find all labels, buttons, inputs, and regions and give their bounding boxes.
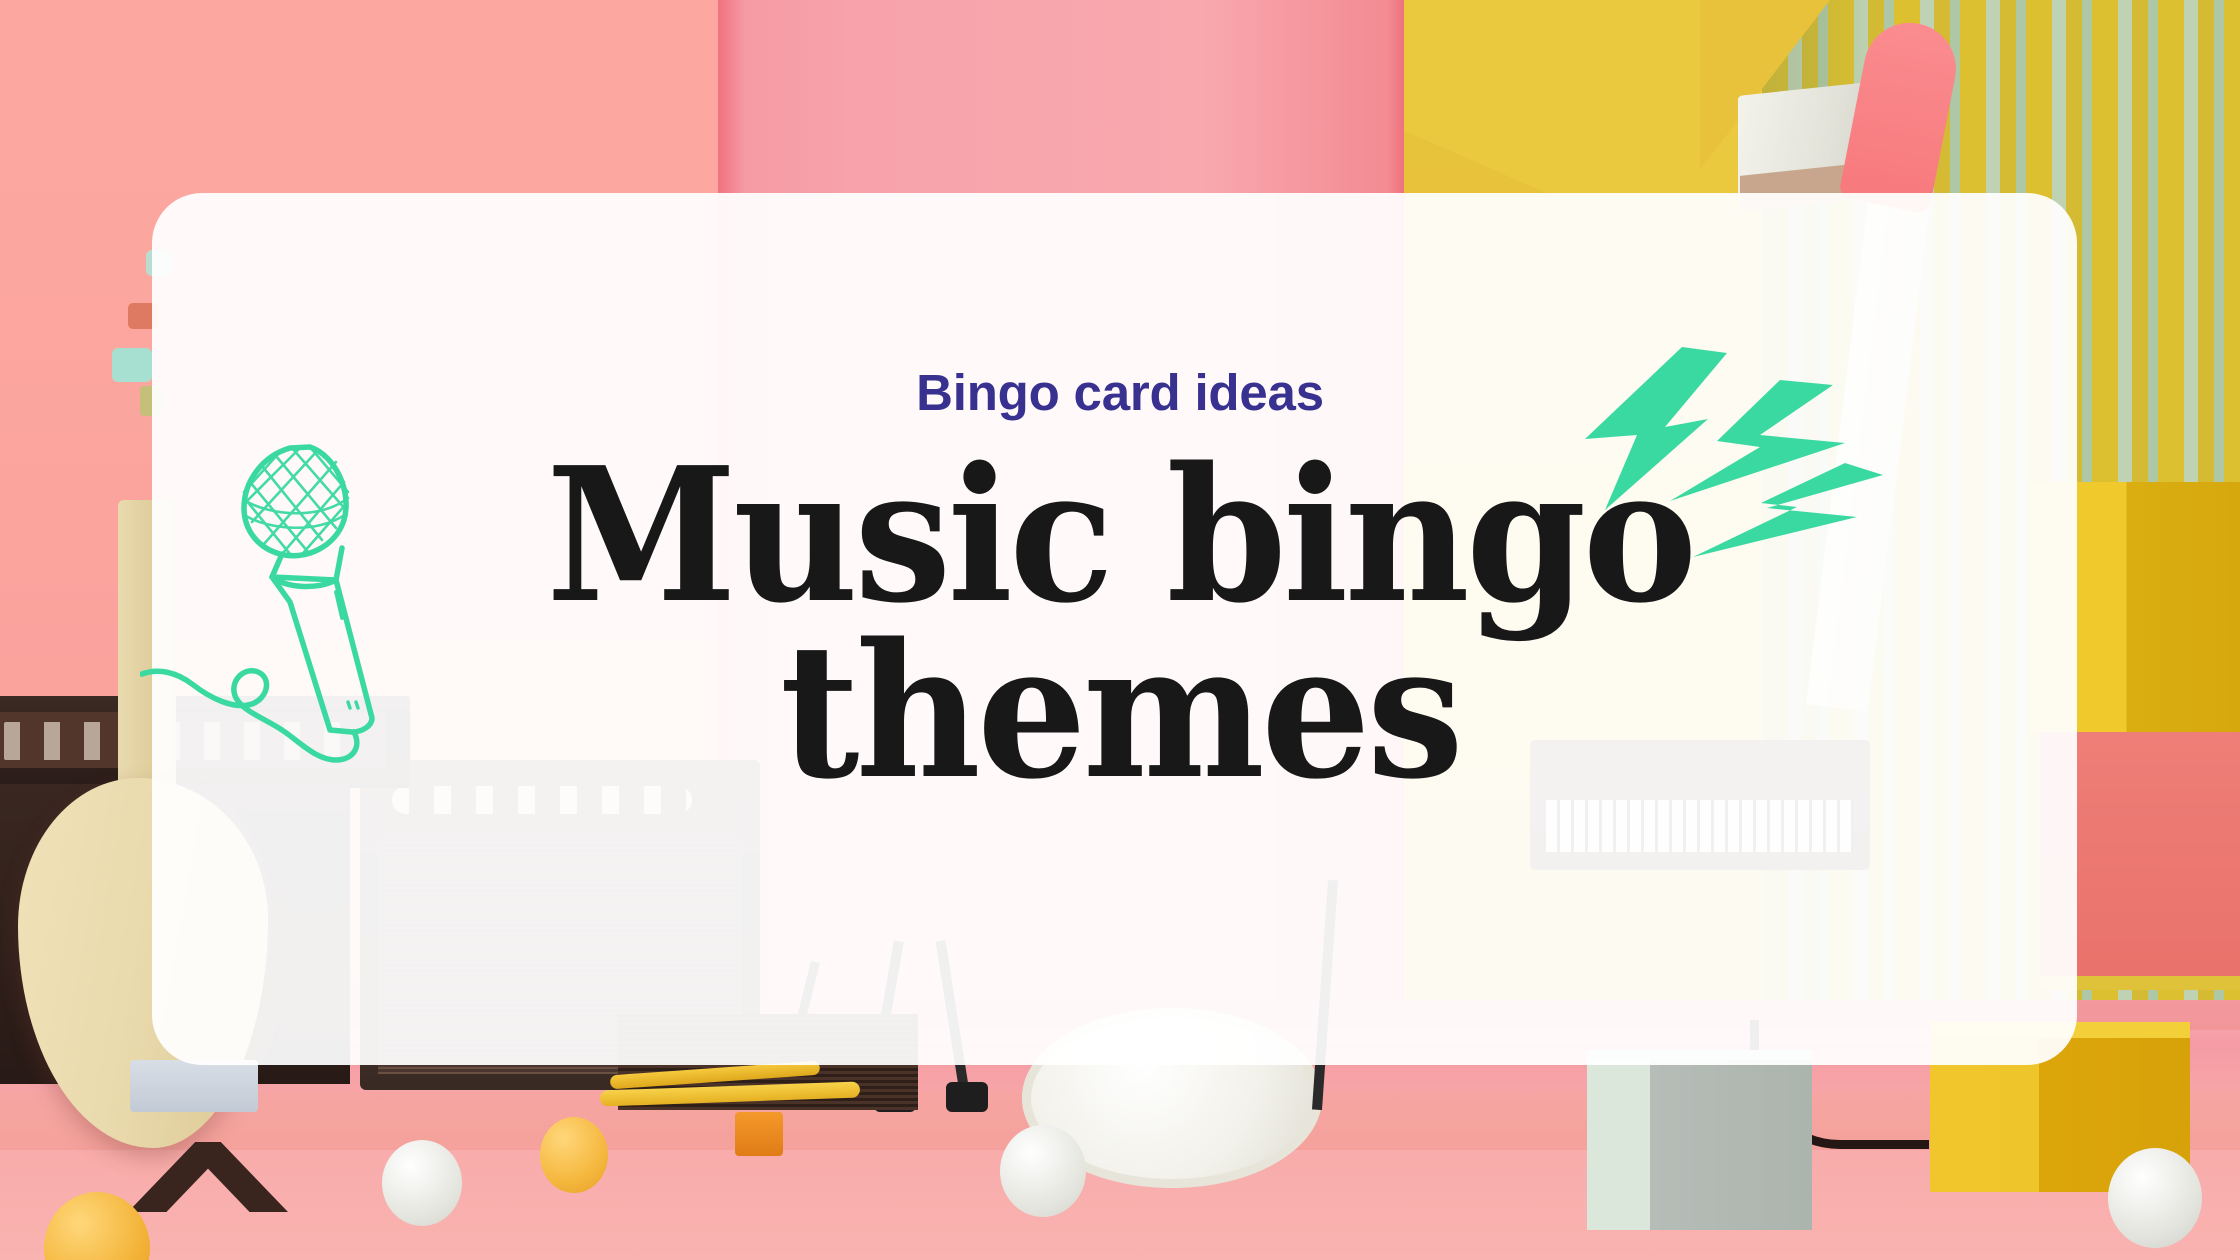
page-title: Music bingo themes <box>78 448 2161 800</box>
orange-ball-center <box>540 1117 608 1193</box>
page-title-line-1: Music bingo <box>78 448 2161 624</box>
drum-stand-foot-2 <box>946 1082 988 1112</box>
page-eyebrow: Bingo card ideas <box>0 363 2240 422</box>
mint-cube <box>1587 1050 1812 1230</box>
orange-pedal <box>735 1112 783 1156</box>
guitar-pickguard <box>130 1060 258 1112</box>
white-ball-center <box>1000 1125 1086 1217</box>
white-ball-right <box>2108 1148 2202 1248</box>
page-title-line-2: themes <box>78 624 2161 800</box>
poster-canvas: Bingo card ideas Music bingo themes <box>0 0 2240 1260</box>
white-ball-left <box>382 1140 462 1226</box>
